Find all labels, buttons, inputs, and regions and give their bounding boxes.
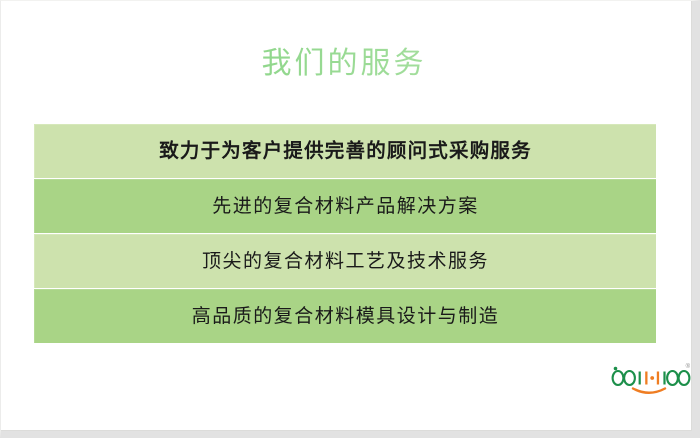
list-item[interactable]: 先进的复合材料产品解决方案 [34, 179, 656, 233]
logo-mark-icon [607, 363, 691, 399]
company-logo: ® [607, 363, 691, 399]
list-item[interactable]: 高品质的复合材料模具设计与制造 [34, 289, 656, 343]
registered-trademark-mark: ® [686, 364, 690, 370]
slide-frame: 我们的服务 致力于为客户提供完善的顾问式采购服务 先进的复合材料产品解决方案 顶… [0, 0, 700, 438]
slide-canvas: 我们的服务 致力于为客户提供完善的顾问式采购服务 先进的复合材料产品解决方案 顶… [1, 1, 692, 431]
list-item-label: 致力于为客户提供完善的顾问式采购服务 [159, 140, 532, 164]
list-item-label: 先进的复合材料产品解决方案 [212, 195, 479, 219]
list-item[interactable]: 致力于为客户提供完善的顾问式采购服务 [34, 124, 656, 178]
page-title: 我们的服务 [1, 45, 687, 83]
list-item-label: 顶尖的复合材料工艺及技术服务 [202, 250, 489, 274]
list-item-label: 高品质的复合材料模具设计与制造 [192, 305, 500, 329]
service-list: 致力于为客户提供完善的顾问式采购服务 先进的复合材料产品解决方案 顶尖的复合材料… [34, 124, 656, 344]
list-item[interactable]: 顶尖的复合材料工艺及技术服务 [34, 234, 656, 288]
